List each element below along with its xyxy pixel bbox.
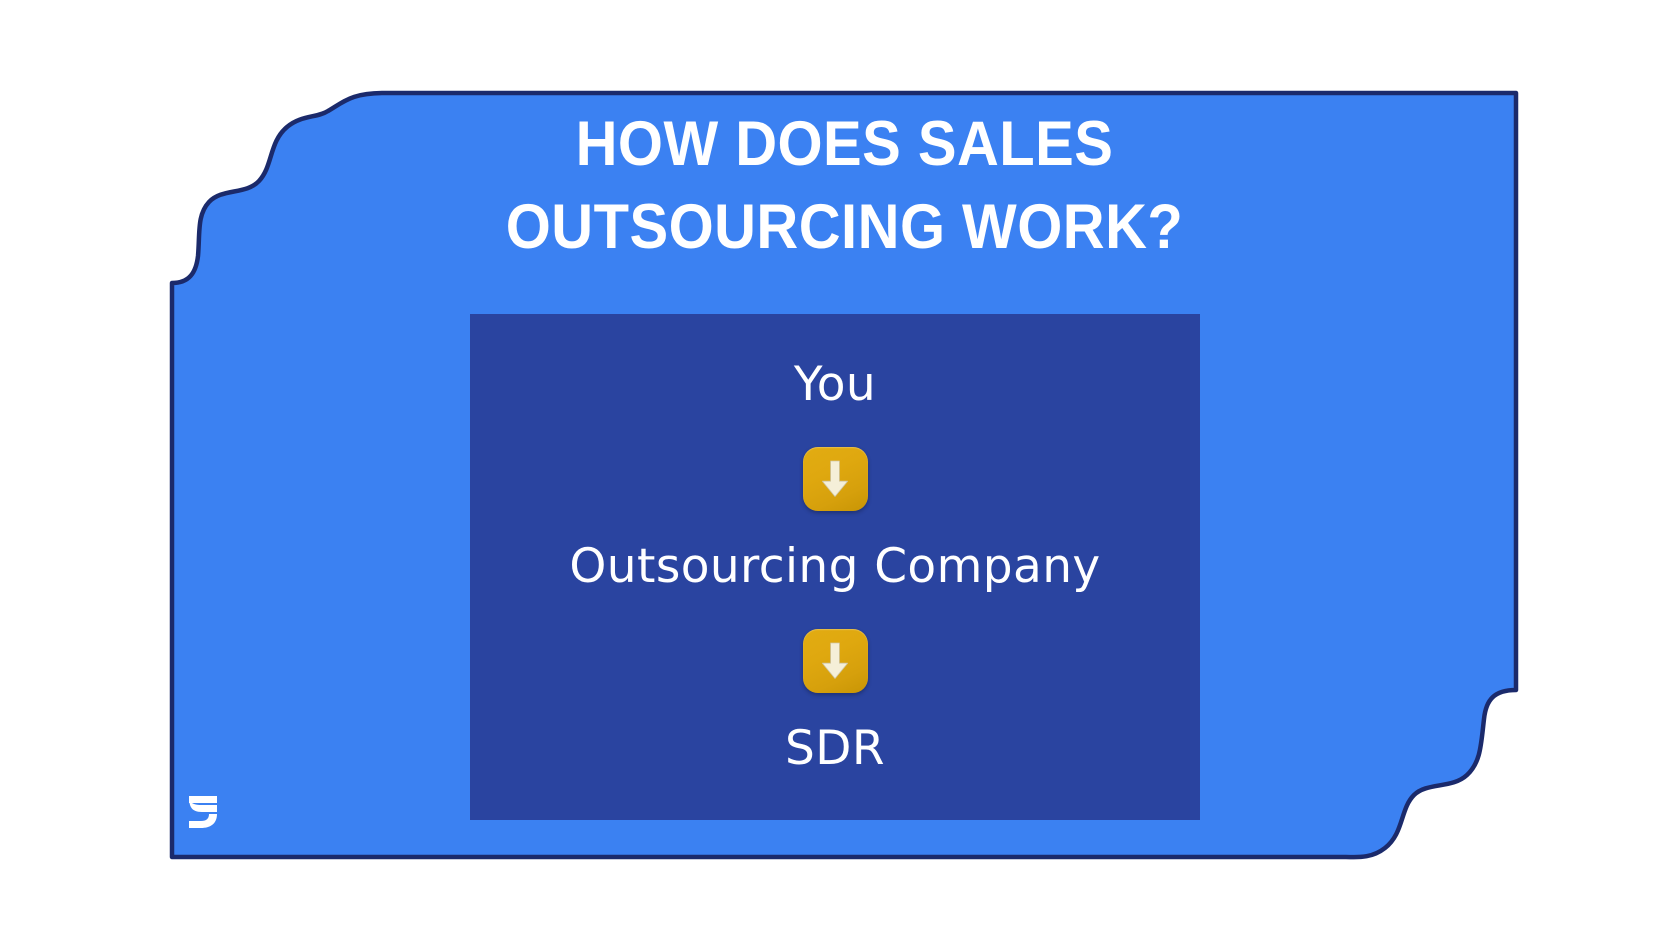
slide-canvas: HOW DOES SALES OUTSOURCING WORK? You Out… — [0, 0, 1680, 945]
outsourcing-flow-box: You Outsourcing Company SDR — [470, 314, 1200, 820]
flow-step-sdr: SDR — [785, 721, 885, 777]
down-arrow-icon-2 — [803, 629, 868, 693]
flow-step-outsourcing-company: Outsourcing Company — [569, 539, 1100, 595]
company-s-logo — [180, 790, 226, 836]
flow-step-you: You — [794, 357, 876, 413]
down-arrow-icon-1 — [803, 447, 868, 511]
